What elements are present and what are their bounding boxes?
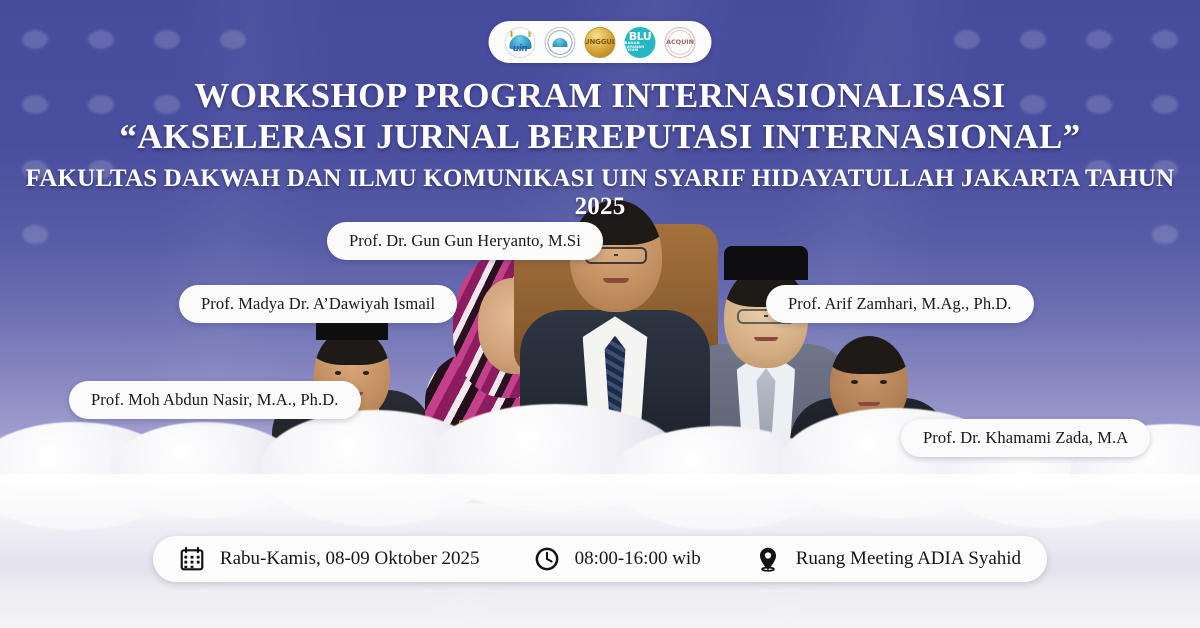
speaker-photo-khamami-zada bbox=[790, 330, 948, 502]
event-time-item: 08:00-16:00 wib bbox=[534, 546, 701, 572]
title-line-3: FAKULTAS DAKWAH DAN ILMU KOMUNIKASI UIN … bbox=[0, 165, 1200, 221]
blu-logo-sublabel: BADAN LAYANAN UMUM bbox=[625, 42, 656, 53]
acquin-logo: ACQUIN bbox=[665, 27, 696, 58]
uin-logo: uin bbox=[505, 27, 536, 58]
event-info-pill: Rabu-Kamis, 08-09 Oktober 2025 08:00-16:… bbox=[153, 536, 1047, 582]
uin-logo-label: uin bbox=[506, 44, 535, 54]
calendar-icon bbox=[179, 546, 205, 572]
uin-seal-logo bbox=[545, 27, 576, 58]
title-block: WORKSHOP PROGRAM INTERNASIONALISASI “AKS… bbox=[0, 76, 1200, 221]
speaker-label-khamami-zada: Prof. Dr. Khamami Zada, M.A bbox=[901, 419, 1150, 457]
title-line-1: WORKSHOP PROGRAM INTERNASIONALISASI bbox=[0, 76, 1200, 117]
location-pin-icon bbox=[755, 546, 781, 572]
book-prop bbox=[459, 420, 521, 504]
event-date-item: Rabu-Kamis, 08-09 Oktober 2025 bbox=[179, 546, 480, 572]
event-venue-item: Ruang Meeting ADIA Syahid bbox=[755, 546, 1021, 572]
unggul-logo: UNGGUL bbox=[585, 27, 616, 58]
speaker-label-arif-zamhari: Prof. Arif Zamhari, M.Ag., Ph.D. bbox=[766, 285, 1034, 323]
event-info-bar: Rabu-Kamis, 08-09 Oktober 2025 08:00-16:… bbox=[0, 536, 1200, 582]
logo-bar: uin UNGGUL BLU BADAN LAYANAN UMUM ACQUIN bbox=[489, 21, 712, 63]
speaker-label-adawiyah-ismail: Prof. Madya Dr. A’Dawiyah Ismail bbox=[179, 285, 457, 323]
speaker-label-moh-abdun-nasir: Prof. Moh Abdun Nasir, M.A., Ph.D. bbox=[69, 381, 361, 419]
poster-root: uin UNGGUL BLU BADAN LAYANAN UMUM ACQUIN… bbox=[0, 0, 1200, 628]
speaker-label-gun-gun-heryanto: Prof. Dr. Gun Gun Heryanto, M.Si bbox=[327, 222, 603, 260]
event-venue-text: Ruang Meeting ADIA Syahid bbox=[796, 548, 1021, 570]
clock-icon bbox=[534, 546, 560, 572]
acquin-logo-label: ACQUIN bbox=[666, 38, 694, 46]
event-time-text: 08:00-16:00 wib bbox=[575, 548, 701, 570]
unggul-logo-label: UNGGUL bbox=[585, 38, 616, 46]
event-date-text: Rabu-Kamis, 08-09 Oktober 2025 bbox=[220, 548, 480, 570]
title-line-2: “AKSELERASI JURNAL BEREPUTASI INTERNASIO… bbox=[0, 117, 1200, 158]
blu-logo: BLU BADAN LAYANAN UMUM bbox=[625, 27, 656, 58]
